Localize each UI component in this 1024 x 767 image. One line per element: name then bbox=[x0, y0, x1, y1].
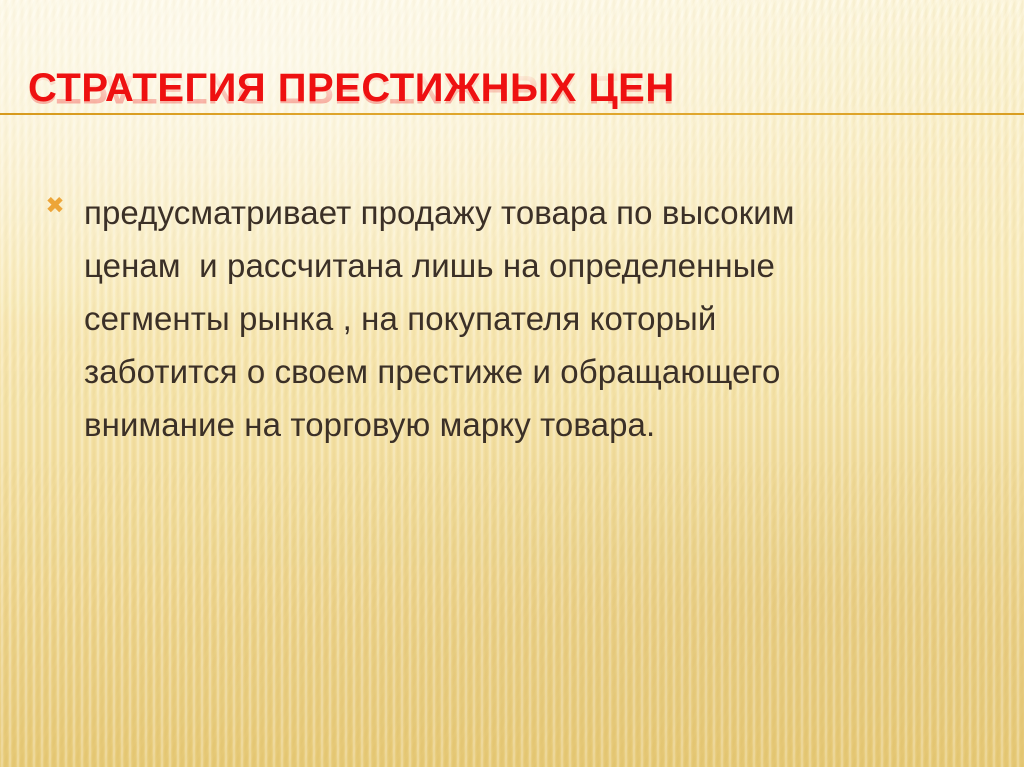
bullet-line: сегменты рынка , на покупателя который bbox=[84, 292, 1024, 345]
bullet-line: предусматривает продажу товара по высоки… bbox=[84, 186, 1024, 239]
title-underline-rule bbox=[0, 113, 1024, 115]
presentation-slide: Стратегия престижных цен Стратегия прест… bbox=[0, 0, 1024, 767]
bullet-line: ценам и рассчитана лишь на определенные bbox=[84, 239, 1024, 292]
cross-bullet-icon: ✖ bbox=[44, 194, 66, 216]
slide-title: Стратегия престижных цен bbox=[28, 64, 675, 112]
list-item: ✖ предусматривает продажу товара по высо… bbox=[0, 186, 1024, 451]
slide-body-block: ✖ предусматривает продажу товара по высо… bbox=[0, 186, 1024, 451]
bullet-line: заботится о своем престиже и обращающего bbox=[84, 345, 1024, 398]
bullet-line: внимание на торговую марку товара. bbox=[84, 398, 1024, 451]
bullet-paragraph: предусматривает продажу товара по высоки… bbox=[84, 186, 1024, 451]
slide-title-block: Стратегия престижных цен Стратегия прест… bbox=[0, 64, 1024, 174]
